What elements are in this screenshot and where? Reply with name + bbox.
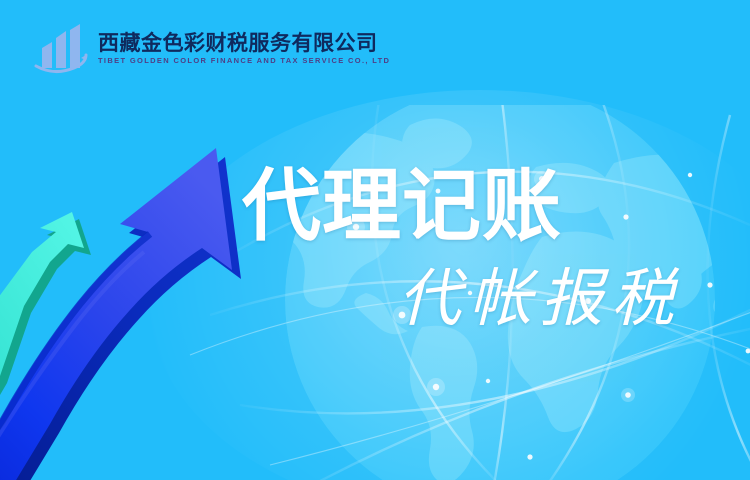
growth-arrows-graphic (0, 120, 280, 480)
company-name-en: TIBET GOLDEN COLOR FINANCE AND TAX SERVI… (98, 56, 390, 65)
company-name-block: 西藏金色彩财税服务有限公司 TIBET GOLDEN COLOR FINANCE… (98, 33, 390, 65)
bar-chart-swoosh-logo-icon (34, 22, 90, 76)
company-logo[interactable]: 西藏金色彩财税服务有限公司 TIBET GOLDEN COLOR FINANCE… (34, 22, 390, 76)
promo-banner: 西藏金色彩财税服务有限公司 TIBET GOLDEN COLOR FINANCE… (0, 0, 750, 480)
company-name-cn: 西藏金色彩财税服务有限公司 (98, 33, 390, 55)
headline-primary: 代理记账 (242, 166, 562, 245)
headline-secondary: 代帐报税 (398, 268, 682, 331)
growth-arrow-blue (0, 148, 241, 480)
